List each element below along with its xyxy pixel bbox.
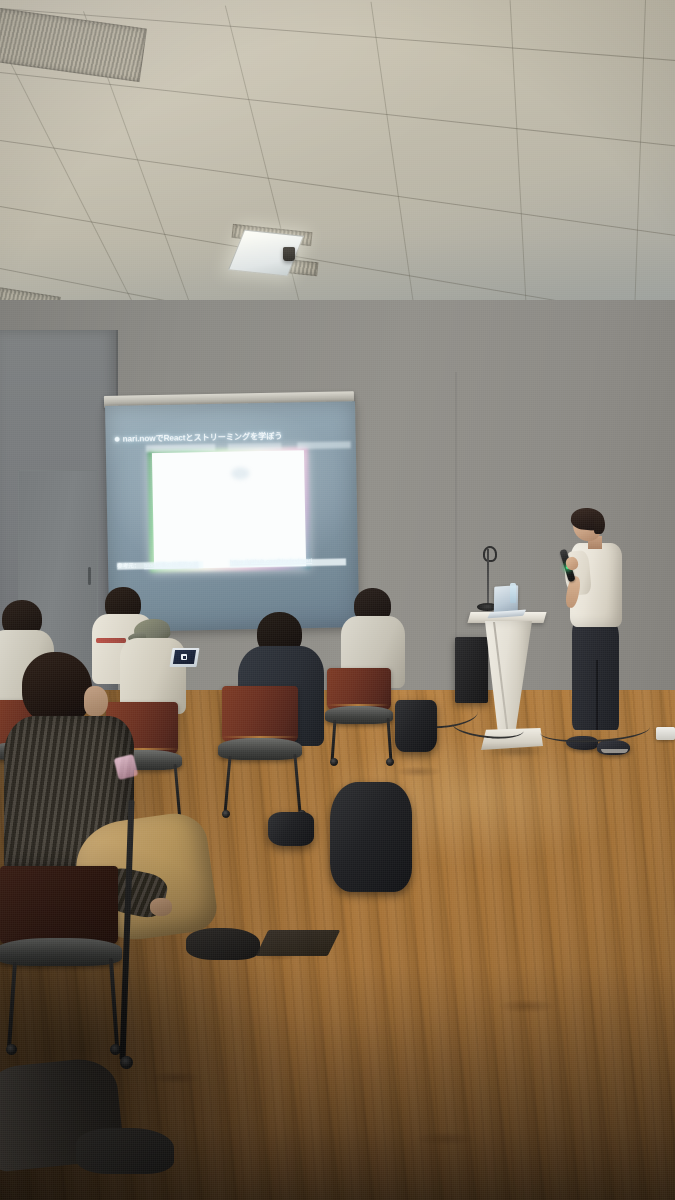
laptop-screen-icon	[181, 654, 187, 660]
floor-mat	[256, 930, 341, 956]
power-strip	[656, 727, 675, 740]
water-bottle	[510, 583, 516, 603]
bullet-dot-icon	[115, 437, 120, 442]
backpack[interactable]	[330, 782, 412, 892]
slide-reference-label: 参考元：	[117, 561, 140, 569]
wall-corner-seam	[455, 372, 457, 672]
presenter-hair-back	[594, 514, 605, 534]
microphone-clip-icon	[483, 546, 497, 562]
attendee-head	[22, 652, 92, 724]
ceiling-projector-icon	[283, 247, 295, 261]
floor-bag[interactable]	[268, 812, 314, 846]
attendee-face	[84, 686, 108, 716]
attendee-shoe	[186, 928, 260, 960]
chair-caster	[120, 1056, 133, 1069]
attendee-shoe	[76, 1128, 174, 1174]
microphone-stand	[487, 549, 489, 607]
slide-reference-link[interactable]: blog記事の技術的な話	[144, 560, 199, 569]
projection-screen: nari.nowでReactとストリーミングを学ぼう 参考元： blog記事の技…	[105, 401, 359, 632]
presenter-shoe-sole	[601, 749, 628, 753]
floor-speaker-box	[455, 637, 488, 703]
tote-bag[interactable]	[395, 700, 437, 752]
attendee-hand	[150, 898, 172, 916]
photo-scene: nari.nowでReactとストリーミングを学ぼう 参考元： blog記事の技…	[0, 0, 675, 1200]
attendee-shirt-logo	[96, 638, 126, 643]
slide-title-text: nari.nowでReactとストリーミングを学ぼう	[123, 432, 283, 444]
slide-content-panel	[152, 450, 306, 569]
